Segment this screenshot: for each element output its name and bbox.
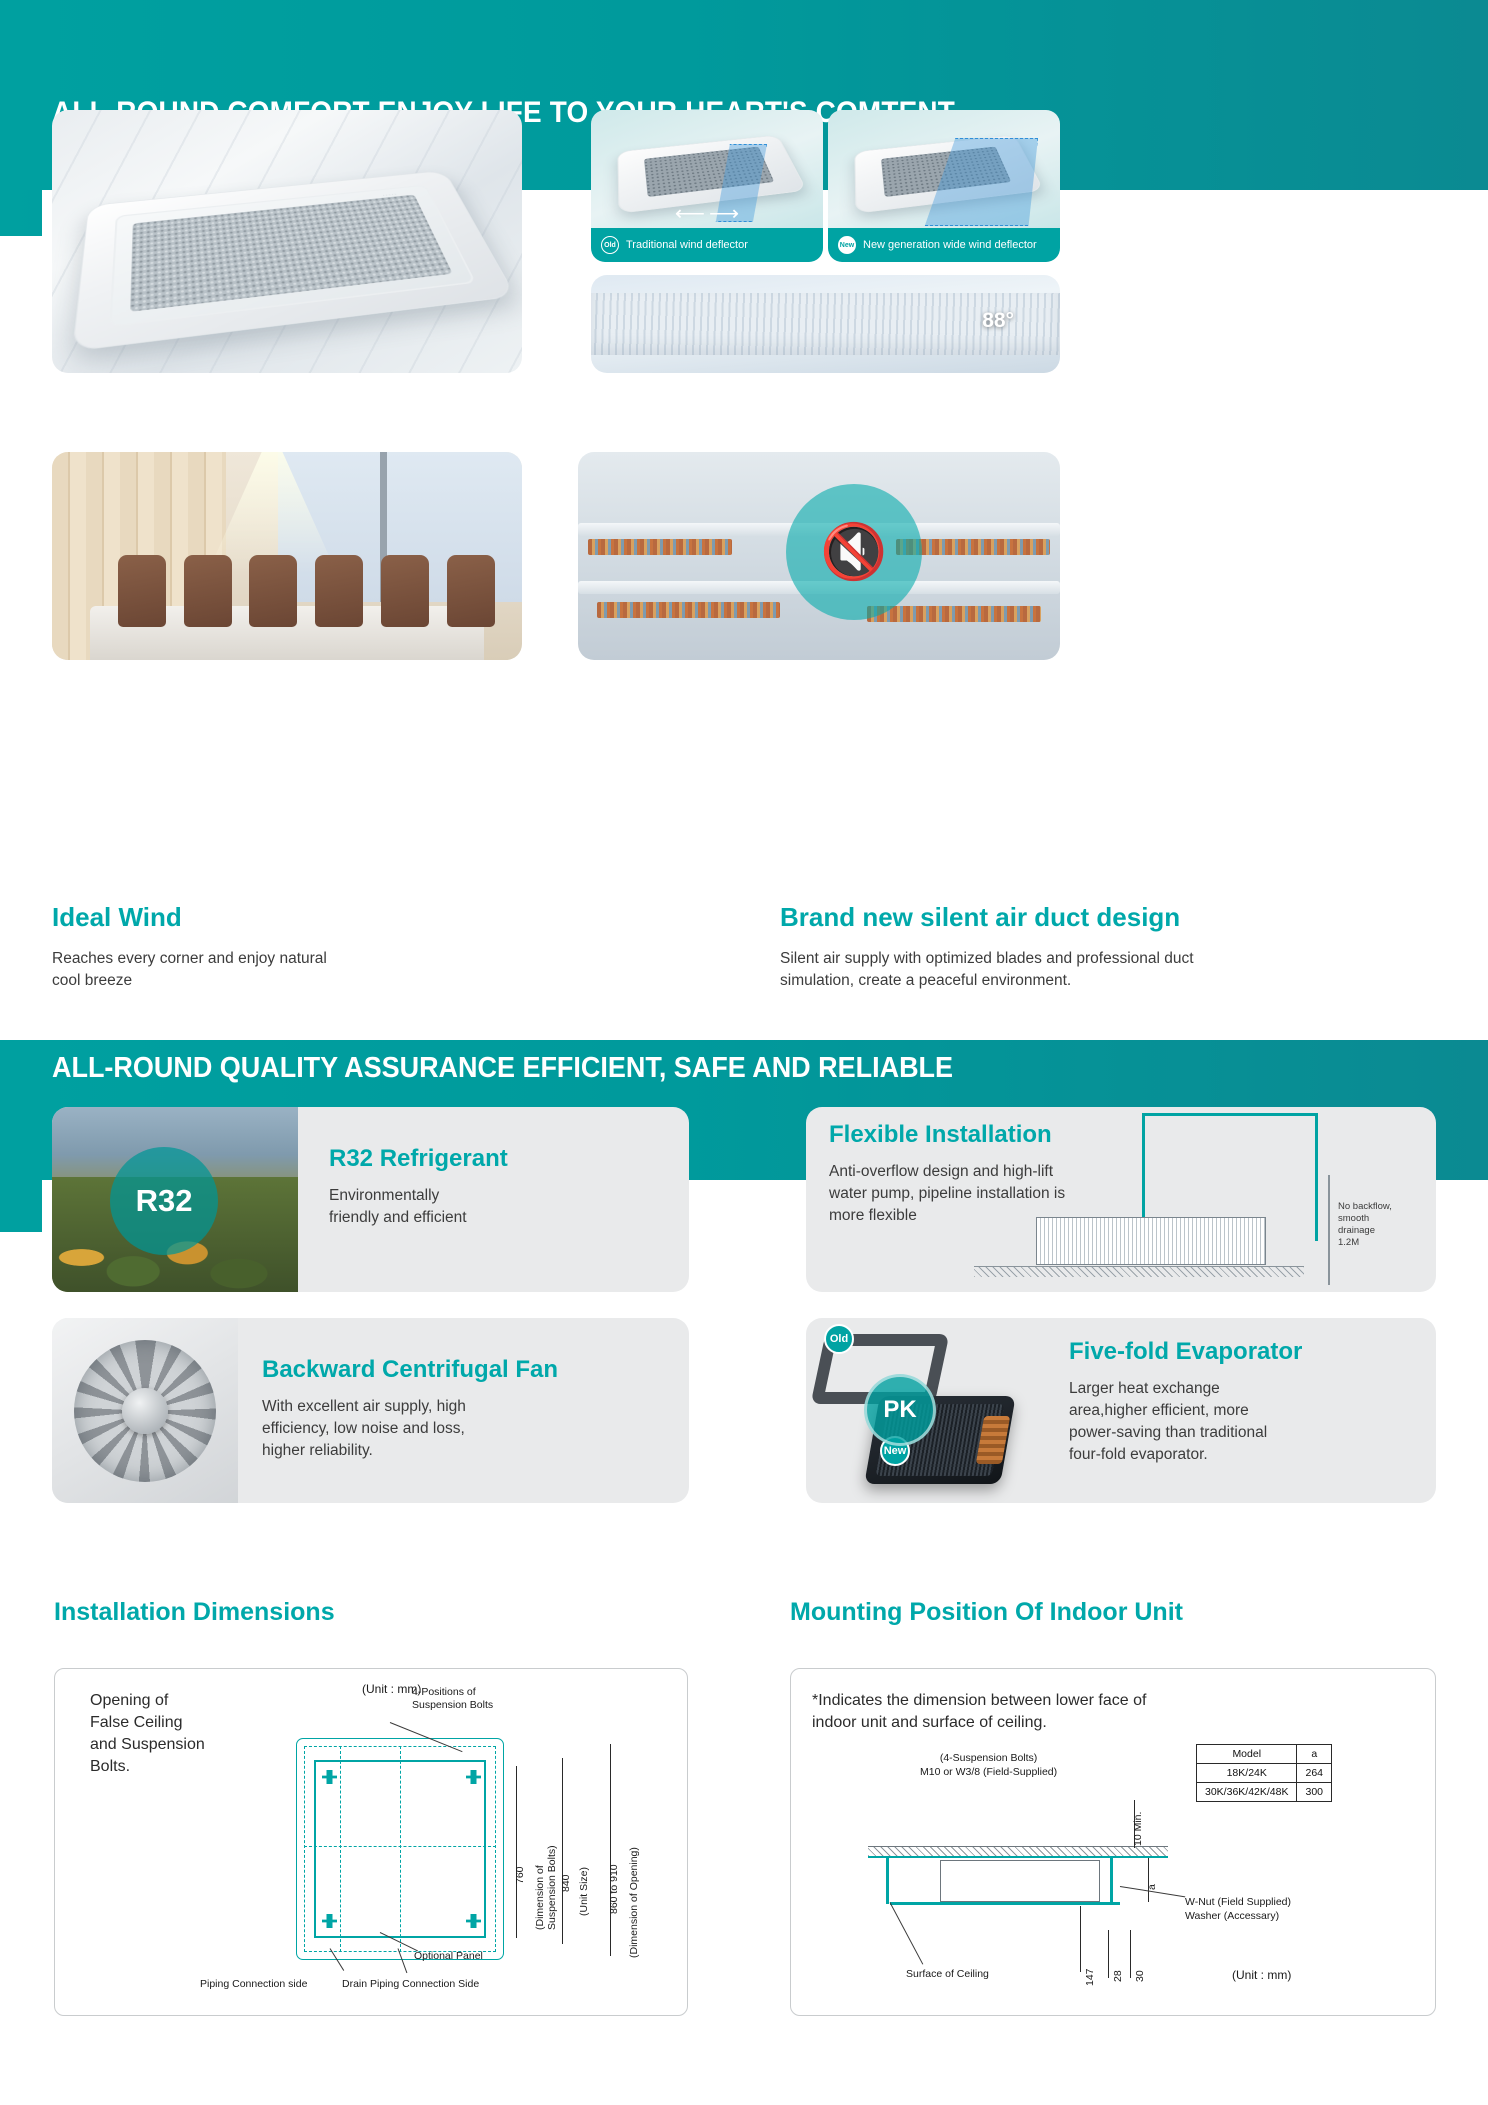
feature-title-ideal-wind: Ideal Wind bbox=[52, 902, 182, 933]
r32-forest-photo: R32 bbox=[52, 1107, 298, 1292]
dim-840-value: 840 bbox=[560, 1874, 572, 1892]
dim-760-value: 760 bbox=[514, 1866, 526, 1884]
silent-badge: 🔇 bbox=[786, 484, 922, 620]
dim-760-desc: (Dimension of Suspension Bolts) bbox=[534, 1845, 558, 1930]
table-cell-a: 264 bbox=[1297, 1764, 1332, 1783]
drain-pipe-vertical bbox=[1142, 1113, 1145, 1217]
mounting-panel-line bbox=[890, 1902, 1120, 1905]
table-header-row: Model a bbox=[1197, 1745, 1332, 1764]
library-photo: 🔇 bbox=[578, 452, 1060, 660]
big-louver-photo: 88° bbox=[591, 275, 1060, 373]
dim-a-line bbox=[1148, 1858, 1149, 1902]
library-bookshelf bbox=[588, 539, 733, 555]
r32-badge: R32 bbox=[110, 1147, 218, 1255]
dim-a-label: a bbox=[1146, 1884, 1158, 1890]
dim-28-label: 28 bbox=[1112, 1970, 1124, 1982]
dim-30-line bbox=[1130, 1930, 1131, 1978]
mounting-unit-label: (Unit : mm) bbox=[1232, 1968, 1291, 1982]
room-chair bbox=[381, 555, 429, 627]
dim-840-desc: (Unit Size) bbox=[578, 1867, 590, 1916]
library-bookshelf bbox=[597, 602, 780, 618]
dim-860-910-line bbox=[610, 1744, 611, 1956]
backflow-note: No backflow, smooth drainage 1.2M bbox=[1338, 1201, 1416, 1250]
feature-desc-ideal-wind: Reaches every corner and enjoy natural c… bbox=[52, 948, 327, 992]
deflector-label-new: New generation wide wind deflector bbox=[863, 239, 1037, 251]
table-cell-model: 18K/24K bbox=[1197, 1764, 1297, 1783]
model-dimension-table: Model a 18K/24K 264 30K/36K/42K/48K 300 bbox=[1196, 1744, 1332, 1802]
card-flexible-installation: Flexible Installation Anti-overflow desi… bbox=[806, 1107, 1436, 1292]
piping-connection-label: Piping Connection side bbox=[200, 1978, 307, 1990]
dim-147-line bbox=[1080, 1906, 1081, 1972]
cad-unit-right-edge bbox=[484, 1760, 486, 1938]
card-r32-refrigerant: R32 R32 Refrigerant Environmentally frie… bbox=[52, 1107, 689, 1292]
bolts-callout-label: 4-Positions of Suspension Bolts bbox=[412, 1686, 493, 1712]
louver-angle-badge: 88° bbox=[982, 309, 1014, 333]
dim-760-line bbox=[516, 1766, 517, 1938]
deflector-label-old: Traditional wind deflector bbox=[626, 239, 748, 251]
wnut-washer-label: W-Nut (Field Supplied) Washer (Accessary… bbox=[1185, 1896, 1291, 1923]
mounting-ceiling-line bbox=[868, 1856, 1168, 1858]
impeller-illustration bbox=[74, 1340, 216, 1482]
section2-banner-notch bbox=[0, 1180, 42, 1232]
table-row: 30K/36K/42K/48K 300 bbox=[1197, 1783, 1332, 1802]
mounting-bolt-right bbox=[1110, 1856, 1113, 1904]
dim-840-line bbox=[562, 1758, 563, 1944]
suspension-bolts-label: (4-Suspension Bolts) M10 or W3/8 (Field-… bbox=[920, 1752, 1057, 1779]
table-cell-model: 30K/36K/42K/48K bbox=[1197, 1783, 1297, 1802]
evaporator-photo: Old New PK bbox=[768, 1318, 1048, 1503]
deflector-caption-old: Old Traditional wind deflector bbox=[591, 228, 823, 262]
card-title-fan: Backward Centrifugal Fan bbox=[262, 1356, 558, 1384]
old-badge-icon: Old bbox=[601, 236, 619, 254]
card-backward-centrifugal-fan: Backward Centrifugal Fan With excellent … bbox=[52, 1318, 689, 1503]
card-body-evaporator: Larger heat exchange area,higher efficie… bbox=[1069, 1378, 1267, 1466]
optional-panel-label: Optional Panel bbox=[414, 1950, 483, 1962]
dim-147-label: 147 bbox=[1084, 1968, 1096, 1986]
pk-badge: PK bbox=[864, 1374, 936, 1446]
table-header-a: a bbox=[1297, 1745, 1332, 1764]
feature-desc-silent-duct: Silent air supply with optimized blades … bbox=[780, 948, 1194, 992]
card-title-r32: R32 Refrigerant bbox=[329, 1145, 508, 1173]
arrow-left-icon: ⟵ bbox=[675, 201, 705, 226]
deflector-card-old: ⟵ ⟶ Old Traditional wind deflector bbox=[591, 110, 823, 262]
table-cell-a: 300 bbox=[1297, 1783, 1332, 1802]
table-header-model: Model bbox=[1197, 1745, 1297, 1764]
deflector-card-new: New New generation wide wind deflector bbox=[828, 110, 1060, 262]
dim-30-label: 30 bbox=[1134, 1970, 1146, 1982]
card-body-r32: Environmentally friendly and efficient bbox=[329, 1185, 467, 1229]
flexible-installation-diagram: No backflow, smooth drainage 1.2M bbox=[946, 1175, 1416, 1285]
library-bookshelf bbox=[867, 606, 1041, 622]
deflector-caption-new: New New generation wide wind deflector bbox=[828, 228, 1060, 262]
installation-dimensions-title: Installation Dimensions bbox=[54, 1598, 335, 1627]
section1-banner-notch bbox=[0, 190, 42, 236]
mounting-position-title: Mounting Position Of Indoor Unit bbox=[790, 1598, 1183, 1627]
mounting-note: *Indicates the dimension between lower f… bbox=[812, 1690, 1146, 1734]
room-chair bbox=[315, 555, 363, 627]
arrow-right-icon: ⟶ bbox=[709, 201, 739, 226]
brochure-page: ALL-ROUND COMFORT ENJOY LIFE TO YOUR HEA… bbox=[0, 0, 1488, 2105]
room-chair bbox=[184, 555, 232, 627]
mute-speaker-icon: 🔇 bbox=[820, 525, 887, 579]
cad-center-line-v1 bbox=[340, 1746, 341, 1952]
room-chair bbox=[249, 555, 297, 627]
card-title-evaporator: Five-fold Evaporator bbox=[1069, 1338, 1302, 1366]
mounting-indoor-unit bbox=[940, 1860, 1100, 1902]
mounting-bolt-left bbox=[886, 1856, 889, 1904]
drain-pipe-horizontal bbox=[1142, 1113, 1318, 1116]
dim-28-line bbox=[1108, 1930, 1109, 1978]
card-five-fold-evaporator: Old New PK Five-fold Evaporator Larger h… bbox=[806, 1318, 1436, 1503]
table-row: 18K/24K 264 bbox=[1197, 1764, 1332, 1783]
room-chair bbox=[118, 555, 166, 627]
feature-title-silent-duct: Brand new silent air duct design bbox=[780, 902, 1180, 933]
cad-center-line-h bbox=[304, 1846, 496, 1847]
installation-note: Opening of False Ceiling and Suspension … bbox=[90, 1690, 205, 1778]
room-chair bbox=[447, 555, 495, 627]
dim-10min-label: 10 Min. bbox=[1132, 1812, 1144, 1846]
wall-line bbox=[1328, 1175, 1330, 1285]
fan-impeller-photo bbox=[52, 1318, 238, 1503]
deflector-arrows-old: ⟵ ⟶ bbox=[591, 200, 823, 226]
drain-piping-label: Drain Piping Connection Side bbox=[342, 1978, 479, 1990]
indoor-unit-schematic bbox=[1036, 1217, 1266, 1265]
surface-of-ceiling-label: Surface of Ceiling bbox=[906, 1968, 989, 1980]
meeting-room-photo bbox=[52, 452, 522, 660]
card-body-fan: With excellent air supply, high efficien… bbox=[262, 1396, 466, 1462]
dim-860-910-desc: (Dimension of Opening) bbox=[628, 1847, 640, 1958]
evaporator-tag-old: Old bbox=[824, 1324, 854, 1354]
ceiling-hatch bbox=[974, 1266, 1304, 1277]
drain-pipe-down bbox=[1315, 1113, 1318, 1241]
dim-860-910-value: 860 to 910 bbox=[608, 1864, 620, 1914]
card-title-flexible: Flexible Installation bbox=[829, 1121, 1052, 1149]
hero-cassette-photo: ····· bbox=[52, 110, 522, 373]
section2-title: ALL-ROUND QUALITY ASSURANCE EFFICIENT, S… bbox=[52, 1052, 953, 1085]
new-badge-icon: New bbox=[838, 236, 856, 254]
mounting-ceiling-hatch bbox=[868, 1846, 1168, 1856]
cad-unit-left-edge bbox=[314, 1760, 316, 1938]
cad-center-line-v2 bbox=[400, 1746, 401, 1952]
